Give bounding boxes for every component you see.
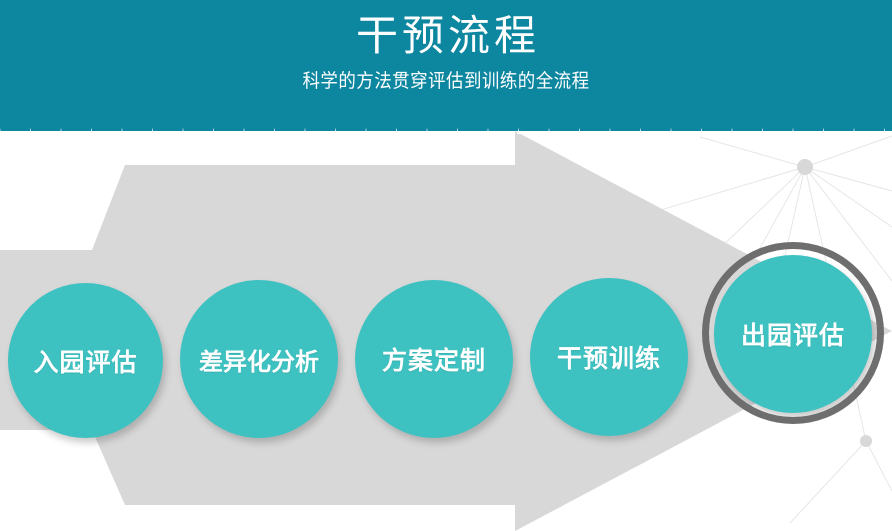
step-label-1: 入园评估 bbox=[33, 343, 137, 379]
highlight-ring-final-step bbox=[702, 242, 884, 424]
intervention-process-infographic: 入园评估 差异化分析 方案定制 干预训练 出园评估 干预流程 科学的方法贯穿评估… bbox=[0, 0, 892, 531]
step-label-2: 差异化分析 bbox=[199, 342, 319, 377]
step-label-4: 干预训练 bbox=[557, 339, 661, 375]
step-node-3[interactable]: 方案定制 bbox=[355, 280, 513, 438]
step-node-2[interactable]: 差异化分析 bbox=[180, 280, 338, 438]
step-node-1[interactable]: 入园评估 bbox=[8, 283, 163, 438]
step-label-3: 方案定制 bbox=[382, 341, 486, 377]
process-steps: 入园评估 差异化分析 方案定制 干预训练 出园评估 bbox=[0, 0, 892, 531]
step-node-4[interactable]: 干预训练 bbox=[530, 278, 688, 436]
